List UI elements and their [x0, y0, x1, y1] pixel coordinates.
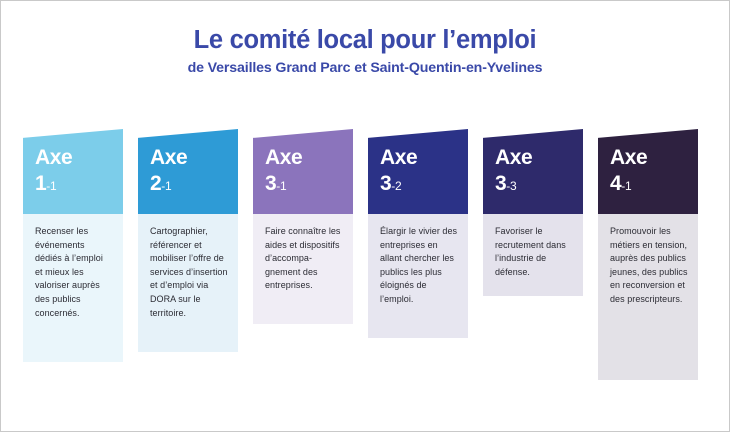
axis-label: Axe [380, 147, 460, 168]
axis-card-header: Axe 2-1 [138, 129, 238, 214]
axis-card: Axe 3-2 Élargir le vivier des entreprise… [368, 129, 468, 338]
axis-number-suffix: -1 [276, 179, 286, 193]
page-subtitle: de Versailles Grand Parc et Saint-Quenti… [1, 60, 729, 77]
axis-number-line: 3-1 [265, 173, 345, 194]
page-title: Le comité local pour l’emploi [1, 25, 729, 55]
axis-card-header: Axe 3-2 [368, 129, 468, 214]
axis-card-body: Recenser les événements dédiés à l’emplo… [23, 214, 123, 362]
axis-label: Axe [35, 147, 115, 168]
axis-number-suffix: -3 [506, 179, 516, 193]
axis-card-body: Favoriser le recrutement dans l’industri… [483, 214, 583, 296]
axis-number-line: 3-2 [380, 173, 460, 194]
axis-card-text: Cartographier, référencer et mobiliser l… [150, 225, 228, 320]
axis-label: Axe [150, 147, 230, 168]
axis-number-suffix: -2 [391, 179, 401, 193]
axis-number: 1 [35, 172, 46, 195]
axis-cards-row: Axe 1-1 Recenser les événements dédiés à… [23, 129, 713, 380]
axis-number: 3 [495, 172, 506, 195]
axis-number: 3 [380, 172, 391, 195]
axis-number-suffix: -1 [621, 179, 631, 193]
axis-card: Axe 2-1 Cartographier, référencer et mob… [138, 129, 238, 352]
axis-number-line: 3-3 [495, 173, 575, 194]
axis-card: Axe 3-1 Faire connaître les aides et dis… [253, 129, 353, 324]
header-block: Le comité local pour l’emploi de Versail… [1, 25, 729, 77]
axis-number: 2 [150, 172, 161, 195]
axis-number-line: 2-1 [150, 173, 230, 194]
axis-card-text: Recenser les événements dédiés à l’emplo… [35, 225, 113, 320]
axis-number-line: 4-1 [610, 173, 690, 194]
axis-card-text: Élargir le vivier des entreprises en all… [380, 225, 458, 307]
axis-card-text: Favoriser le recrutement dans l’industri… [495, 225, 573, 279]
axis-card-text: Promouvoir les métiers en tension, auprè… [610, 225, 688, 307]
axis-card-header: Axe 1-1 [23, 129, 123, 214]
axis-number: 4 [610, 172, 621, 195]
axis-card: Axe 1-1 Recenser les événements dédiés à… [23, 129, 123, 362]
axis-card-header: Axe 4-1 [598, 129, 698, 214]
axis-label: Axe [495, 147, 575, 168]
axis-card-body: Cartographier, référencer et mobiliser l… [138, 214, 238, 352]
axis-number: 3 [265, 172, 276, 195]
axis-card: Axe 4-1 Promouvoir les métiers en tensio… [598, 129, 698, 380]
axis-card-header: Axe 3-1 [253, 129, 353, 214]
axis-card-body: Élargir le vivier des entreprises en all… [368, 214, 468, 338]
axis-number-suffix: -1 [161, 179, 171, 193]
axis-number-suffix: -1 [46, 179, 56, 193]
axis-number-line: 1-1 [35, 173, 115, 194]
axis-card-body: Faire connaître les aides et dispositifs… [253, 214, 353, 324]
axis-label: Axe [610, 147, 690, 168]
infographic-canvas: Le comité local pour l’emploi de Versail… [1, 1, 729, 431]
axis-label: Axe [265, 147, 345, 168]
axis-card-body: Promouvoir les métiers en tension, auprè… [598, 214, 698, 380]
axis-card-text: Faire connaître les aides et dispositifs… [265, 225, 343, 293]
axis-card: Axe 3-3 Favoriser le recrutement dans l’… [483, 129, 583, 296]
axis-card-header: Axe 3-3 [483, 129, 583, 214]
